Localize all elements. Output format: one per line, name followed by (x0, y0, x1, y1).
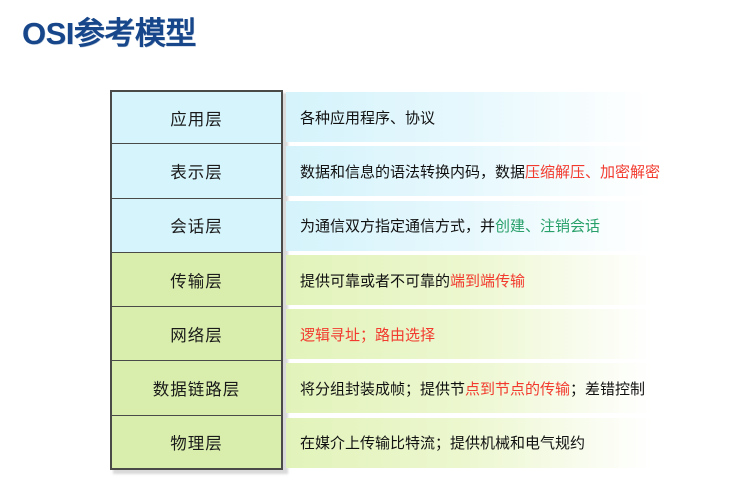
layer-name-label: 传输层 (170, 268, 223, 292)
layer-description: 数据和信息的语法转换内码，数据压缩解压、加密解密 (300, 144, 660, 198)
layer-name-label: 网络层 (170, 322, 223, 346)
layer-name-cell[interactable]: 数据链路层 (110, 361, 283, 415)
description-segment: 点到节点的传输 (465, 378, 570, 399)
osi-layer-row: 应用层各种应用程序、协议 (0, 90, 755, 144)
layer-name-label: 物理层 (170, 430, 223, 454)
layer-name-cell[interactable]: 物理层 (110, 416, 283, 470)
layer-description: 各种应用程序、协议 (300, 90, 435, 144)
layer-name-label: 应用层 (170, 106, 223, 130)
layer-name-cell[interactable]: 应用层 (110, 90, 283, 144)
osi-layer-row: 传输层提供可靠或者不可靠的端到端传输 (0, 253, 755, 307)
layer-name-label: 会话层 (170, 213, 223, 237)
osi-layer-row: 物理层在媒介上传输比特流；提供机械和电气规约 (0, 416, 755, 470)
page-title: OSI参考模型 (22, 8, 196, 53)
layer-name-label: 数据链路层 (153, 376, 241, 400)
description-segment: 将分组封装成帧；提供节 (300, 378, 465, 399)
description-segment: ；差错控制 (570, 378, 645, 399)
osi-layer-row: 网络层逻辑寻址；路由选择 (0, 307, 755, 361)
description-segment: 为通信双方指定通信方式，并 (300, 215, 495, 236)
layer-description: 在媒介上传输比特流；提供机械和电气规约 (300, 416, 585, 470)
osi-layer-diagram: 应用层各种应用程序、协议表示层数据和信息的语法转换内码，数据压缩解压、加密解密会… (0, 90, 755, 471)
layer-name-cell[interactable]: 表示层 (110, 144, 283, 198)
layer-name-cell[interactable]: 网络层 (110, 307, 283, 361)
osi-layer-row: 表示层数据和信息的语法转换内码，数据压缩解压、加密解密 (0, 144, 755, 198)
description-segment: 压缩解压、加密解密 (525, 161, 660, 182)
osi-layer-row: 数据链路层将分组封装成帧；提供节点到节点的传输；差错控制 (0, 361, 755, 415)
description-segment: 逻辑寻址；路由选择 (300, 324, 435, 345)
layer-name-cell[interactable]: 会话层 (110, 199, 283, 253)
description-segment: 端到端传输 (450, 270, 525, 291)
layer-description: 提供可靠或者不可靠的端到端传输 (300, 253, 525, 307)
layer-name-cell[interactable]: 传输层 (110, 253, 283, 307)
layer-description: 为通信双方指定通信方式，并创建、注销会话 (300, 199, 600, 253)
description-segment: 在媒介上传输比特流；提供机械和电气规约 (300, 432, 585, 453)
layer-name-label: 表示层 (170, 159, 223, 183)
layer-description: 逻辑寻址；路由选择 (300, 307, 435, 361)
layer-description: 将分组封装成帧；提供节点到节点的传输；差错控制 (300, 361, 645, 415)
description-segment: 提供可靠或者不可靠的 (300, 270, 450, 291)
description-segment: 创建、注销会话 (495, 215, 600, 236)
layer-rows: 应用层各种应用程序、协议表示层数据和信息的语法转换内码，数据压缩解压、加密解密会… (0, 90, 755, 470)
description-segment: 数据和信息的语法转换内码，数据 (300, 161, 525, 182)
osi-layer-row: 会话层为通信双方指定通信方式，并创建、注销会话 (0, 199, 755, 253)
description-segment: 各种应用程序、协议 (300, 107, 435, 128)
